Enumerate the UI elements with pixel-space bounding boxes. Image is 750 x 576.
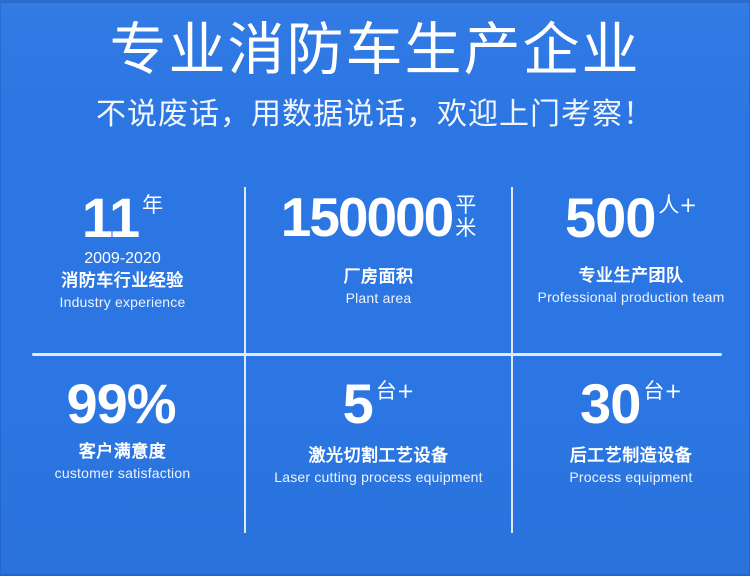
stat-number: 11 (82, 192, 139, 244)
stat-caption: 2009-2020 消防车行业经验 Industry experience (60, 249, 186, 313)
stat-caption: 客户满意度 customer satisfaction (55, 440, 191, 484)
page-title: 专业消防车生产企业 (0, 22, 750, 79)
stat-number: 5 (343, 378, 373, 430)
stat-caption: 专业生产团队 Professional production team (538, 264, 725, 308)
promo-banner: 专业消防车生产企业 不说废话，用数据说话，欢迎上门考察！ 11 年 2009-2… (0, 0, 750, 576)
stat-unit-line-2: 米 (455, 217, 476, 240)
stat-label-en: Professional production team (538, 288, 725, 307)
stat-value-row: 5 台+ (343, 378, 415, 430)
stat-caption: 厂房面积 Plant area (344, 265, 414, 309)
stat-caption: 激光切割工艺设备 Laser cutting process equipment (274, 444, 483, 488)
stat-label-cn: 厂房面积 (344, 265, 414, 290)
stat-unit: 年 (142, 195, 163, 216)
stat-number: 150000 (281, 192, 453, 243)
stat-caption: 后工艺制造设备 Process equipment (569, 444, 692, 488)
stat-label-cn: 专业生产团队 (538, 264, 725, 289)
stat-label-cn: 消防车行业经验 (60, 269, 186, 294)
stat-label-en: Process equipment (569, 468, 692, 487)
stat-value-row: 30 台+ (580, 378, 682, 430)
stat-number: 30 (580, 378, 640, 430)
stat-label-en: Industry experience (60, 293, 186, 312)
stat-label-cn: 后工艺制造设备 (569, 444, 692, 469)
stat-cell-years: 11 年 2009-2020 消防车行业经验 Industry experien… (0, 178, 245, 354)
stat-cell-satisfaction: 99% 客户满意度 customer satisfaction (0, 354, 245, 538)
stat-value-row: 500 人+ (565, 192, 697, 244)
stat-cell-process-equipment: 30 台+ 后工艺制造设备 Process equipment (512, 354, 750, 538)
stat-label-cn: 客户满意度 (55, 440, 191, 465)
banner-header: 专业消防车生产企业 不说废话，用数据说话，欢迎上门考察！ (0, 22, 750, 130)
stat-unit-line-1: 平 (455, 194, 476, 217)
stat-label-en: Plant area (344, 289, 414, 308)
stat-unit: 人+ (658, 195, 697, 216)
stat-cell-team: 500 人+ 专业生产团队 Professional production te… (512, 178, 750, 354)
stat-label-en: customer satisfaction (55, 464, 191, 483)
stat-year-range: 2009-2020 (60, 249, 186, 269)
stat-unit: 台+ (643, 381, 682, 402)
stat-value-row: 150000 平 米 (281, 192, 477, 243)
stat-number: 500 (565, 192, 655, 244)
stat-cell-laser-equipment: 5 台+ 激光切割工艺设备 Laser cutting process equi… (245, 354, 512, 538)
stat-cell-plant-area: 150000 平 米 厂房面积 Plant area (245, 178, 512, 354)
stat-value-row: 99% (66, 378, 178, 430)
stats-grid: 11 年 2009-2020 消防车行业经验 Industry experien… (0, 178, 750, 538)
stat-label-cn: 激光切割工艺设备 (274, 444, 483, 469)
stat-unit: 平 米 (455, 194, 476, 239)
page-subtitle: 不说废话，用数据说话，欢迎上门考察！ (0, 100, 750, 130)
stat-unit: 台+ (376, 381, 415, 402)
stat-number: 99% (66, 378, 175, 430)
stat-label-en: Laser cutting process equipment (274, 468, 483, 487)
stat-value-row: 11 年 (82, 192, 163, 244)
